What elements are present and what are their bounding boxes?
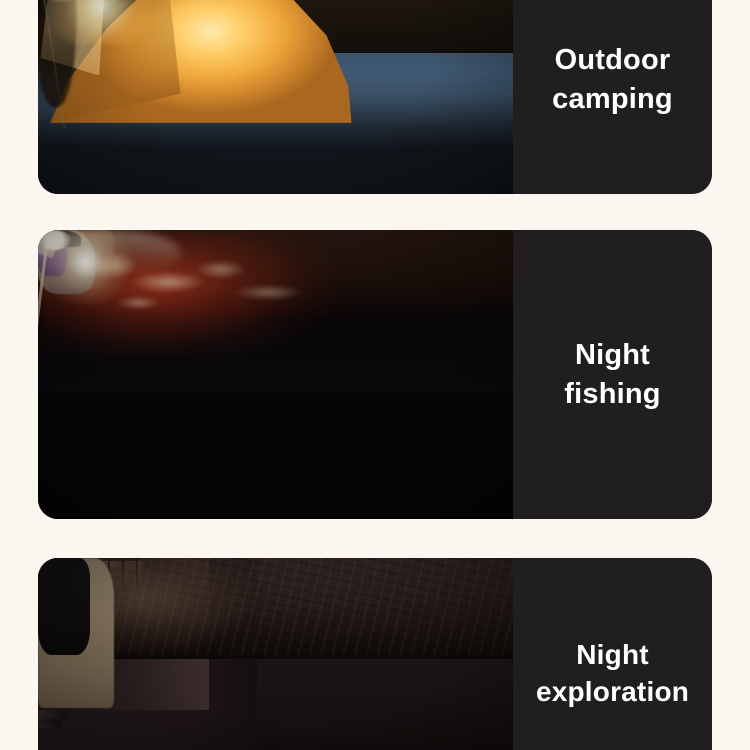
feature-card-night-fishing[interactable]: Night fishing (38, 230, 712, 519)
feature-card-outdoor-camping[interactable]: Outdoor camping (38, 0, 712, 194)
card-caption-night-exploration: Night exploration (513, 558, 712, 750)
photo-lamp-flare (38, 0, 86, 2)
card-photo-outdoor-camping (38, 0, 513, 194)
photo-tent-lamp-glow (38, 0, 162, 44)
caption-label: Night fishing (564, 336, 660, 413)
caption-label: Outdoor camping (552, 41, 673, 118)
photo-vignette (38, 558, 513, 750)
caption-label: Night exploration (536, 636, 689, 710)
card-caption-night-fishing: Night fishing (513, 230, 712, 519)
card-caption-outdoor-camping: Outdoor camping (513, 0, 712, 194)
feature-card-list: Outdoor camping (0, 0, 750, 750)
card-photo-night-exploration (38, 558, 513, 750)
card-photo-night-fishing (38, 230, 513, 519)
feature-card-night-exploration[interactable]: Night exploration (38, 558, 712, 750)
